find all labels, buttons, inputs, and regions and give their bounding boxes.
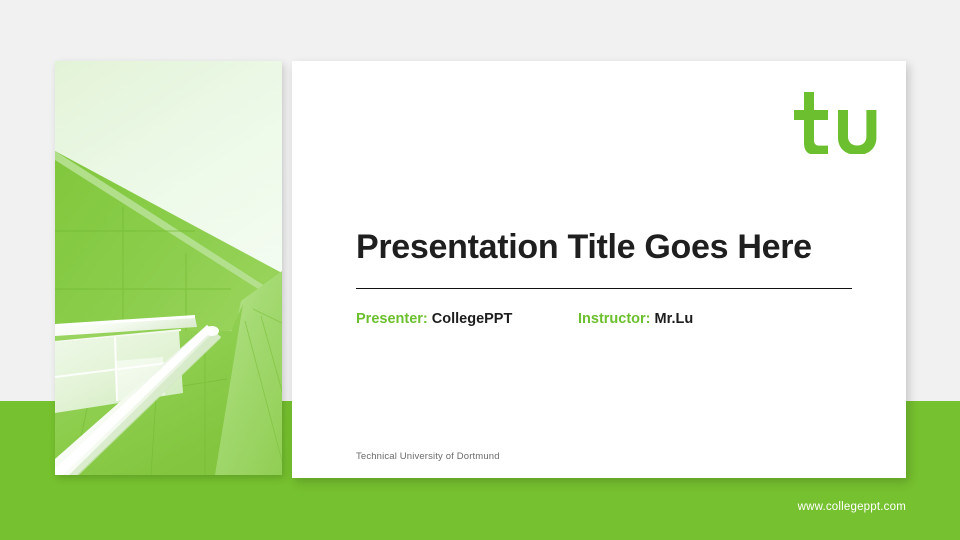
green-architecture-stairwell-photo <box>55 61 282 475</box>
slide-stage: www.collegeppt.com <box>0 0 960 540</box>
footer-website-url: www.collegeppt.com <box>798 501 906 513</box>
instructor-value: Mr.Lu <box>655 311 694 327</box>
page-title: Presentation Title Goes Here <box>356 228 812 267</box>
title-divider <box>356 288 852 289</box>
credits-row: Presenter: CollegePPT Instructor: Mr.Lu <box>356 311 876 333</box>
institution-name: Technical University of Dortmund <box>356 451 500 462</box>
presenter-credit: Presenter: CollegePPT <box>356 311 512 327</box>
instructor-label: Instructor: <box>578 311 651 327</box>
presenter-value: CollegePPT <box>432 311 513 327</box>
tu-logo-icon <box>794 92 880 154</box>
content-card: Presentation Title Goes Here Presenter: … <box>292 61 906 478</box>
presenter-label: Presenter: <box>356 311 428 327</box>
cover-photo-panel <box>55 61 282 475</box>
tu-dortmund-logo <box>794 92 880 154</box>
instructor-credit: Instructor: Mr.Lu <box>578 311 693 327</box>
